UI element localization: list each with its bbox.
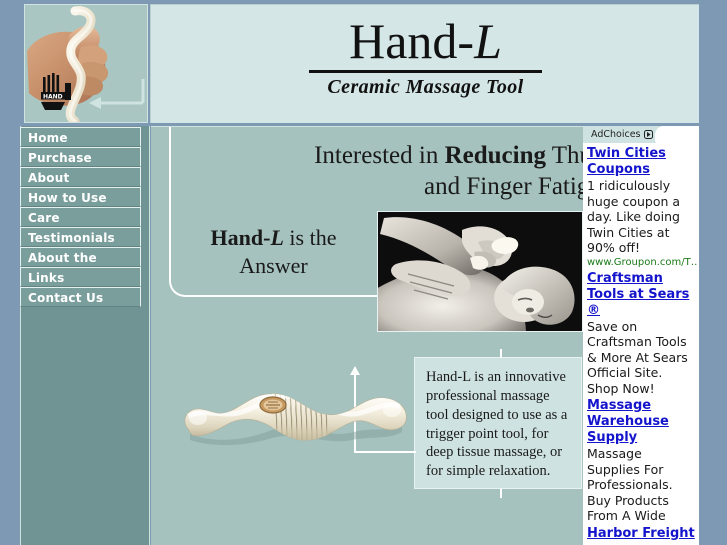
adchoices-triangle-icon xyxy=(644,130,653,139)
sidebar-item-home[interactable]: Home xyxy=(20,127,141,147)
headline-part-1: Interested in xyxy=(314,142,445,169)
ad-title-link[interactable]: Harbor Freight xyxy=(587,526,697,542)
brand-name-italic: L xyxy=(474,13,502,69)
ad-display-url: www.Groupon.com/T… xyxy=(587,256,697,269)
sidebar-item-contact-us[interactable]: Contact Us xyxy=(20,287,141,307)
sidebar-item-label: Links xyxy=(28,271,64,285)
ad-body-text: Massage Supplies For Professionals. Buy … xyxy=(587,446,697,524)
adchoices-tab xyxy=(655,126,699,143)
brand-tagline: Ceramic Massage Tool xyxy=(151,76,700,99)
sidebar-item-about[interactable]: About xyxy=(20,167,141,187)
right-margin-strip xyxy=(699,126,727,545)
answer-line-2: Answer xyxy=(239,253,307,278)
sidebar-item-how-to-use[interactable]: How to Use xyxy=(20,187,141,207)
page-title: Hand-L xyxy=(151,15,700,68)
adchoices-label-text: AdChoices xyxy=(591,128,641,141)
headline: Interested in Reducing Thumb and Finger … xyxy=(224,141,624,202)
sidebar-item-label: Care xyxy=(28,211,60,225)
main-left-rail xyxy=(151,127,164,545)
header-right-margin xyxy=(699,0,727,126)
hand-gripping-tool-illustration: HAND xyxy=(25,5,148,123)
massage-photo[interactable] xyxy=(377,211,583,332)
answer-brand-italic: L xyxy=(270,225,283,250)
site-header: Hand-L Ceramic Massage Tool xyxy=(0,0,727,126)
sidebar-item-links[interactable]: Links xyxy=(20,267,141,287)
sidebar-item-label: Home xyxy=(28,131,68,145)
tool-image[interactable] xyxy=(176,382,416,452)
sidebar-item-label: About xyxy=(28,171,69,185)
sidebar-item-label: About the xyxy=(28,251,97,265)
ads-list: Twin Cities Coupons 1 ridiculously huge … xyxy=(583,143,699,545)
answer-brand-prefix: Hand- xyxy=(211,225,271,250)
ad-title-link[interactable]: Twin Cities Coupons xyxy=(587,146,697,178)
adchoices-link[interactable]: AdChoices xyxy=(591,128,653,141)
tool-arrow-head-icon xyxy=(350,366,360,375)
logo-image[interactable]: HAND xyxy=(24,4,148,123)
callout-bottom-tick xyxy=(500,489,502,498)
main-navigation: Home Purchase About How to Use Care Test… xyxy=(20,127,141,307)
description-callout: Hand-L is an innovative professional mas… xyxy=(414,357,582,489)
ceramic-tool-illustration xyxy=(176,382,416,452)
callout-top-tick xyxy=(500,349,502,358)
ad-body-text: 1 ridiculously huge coupon a day. Like d… xyxy=(587,178,697,256)
sidebar-item-label: Contact Us xyxy=(28,291,103,305)
sidebar-item-purchase[interactable]: Purchase xyxy=(20,147,141,167)
brand-block: Hand-L Ceramic Massage Tool xyxy=(151,15,700,99)
ad-title-link[interactable]: Craftsman Tools at Sears ® xyxy=(587,271,697,319)
page-root: Hand-L Ceramic Massage Tool xyxy=(0,0,727,545)
header-title-panel: Hand-L Ceramic Massage Tool xyxy=(150,4,699,123)
answer-tagline: Hand-L is the Answer xyxy=(186,224,361,280)
ad-item: Massage Warehouse Supply Massage Supplie… xyxy=(587,398,697,524)
massage-photo-illustration xyxy=(378,212,583,332)
sidebar-item-label: Testimonials xyxy=(28,231,115,245)
tool-medallion-icon xyxy=(260,397,286,413)
sidebar-item-about-the[interactable]: About the xyxy=(20,247,141,267)
ad-item: Craftsman Tools at Sears ® Save on Craft… xyxy=(587,271,697,397)
sidebar-item-care[interactable]: Care xyxy=(20,207,141,227)
ad-body-text: Save on Craftsman Tools & More At Sears … xyxy=(587,319,697,397)
answer-rest: is the xyxy=(284,225,337,250)
left-margin-strip xyxy=(0,126,20,545)
headline-emphasis: Reducing xyxy=(445,142,546,169)
sidebar-item-label: How to Use xyxy=(28,191,107,205)
ad-item: Harbor Freight xyxy=(587,526,697,542)
sidebar-item-testimonials[interactable]: Testimonials xyxy=(20,227,141,247)
ad-item: Twin Cities Coupons 1 ridiculously huge … xyxy=(587,146,697,269)
sidebar-item-label: Purchase xyxy=(28,151,92,165)
description-text: Hand-L is an innovative professional mas… xyxy=(426,369,567,479)
ad-title-link[interactable]: Massage Warehouse Supply xyxy=(587,398,697,446)
svg-text:HAND: HAND xyxy=(43,94,63,101)
brand-name-prefix: Hand- xyxy=(349,13,474,69)
brand-divider xyxy=(309,70,542,73)
